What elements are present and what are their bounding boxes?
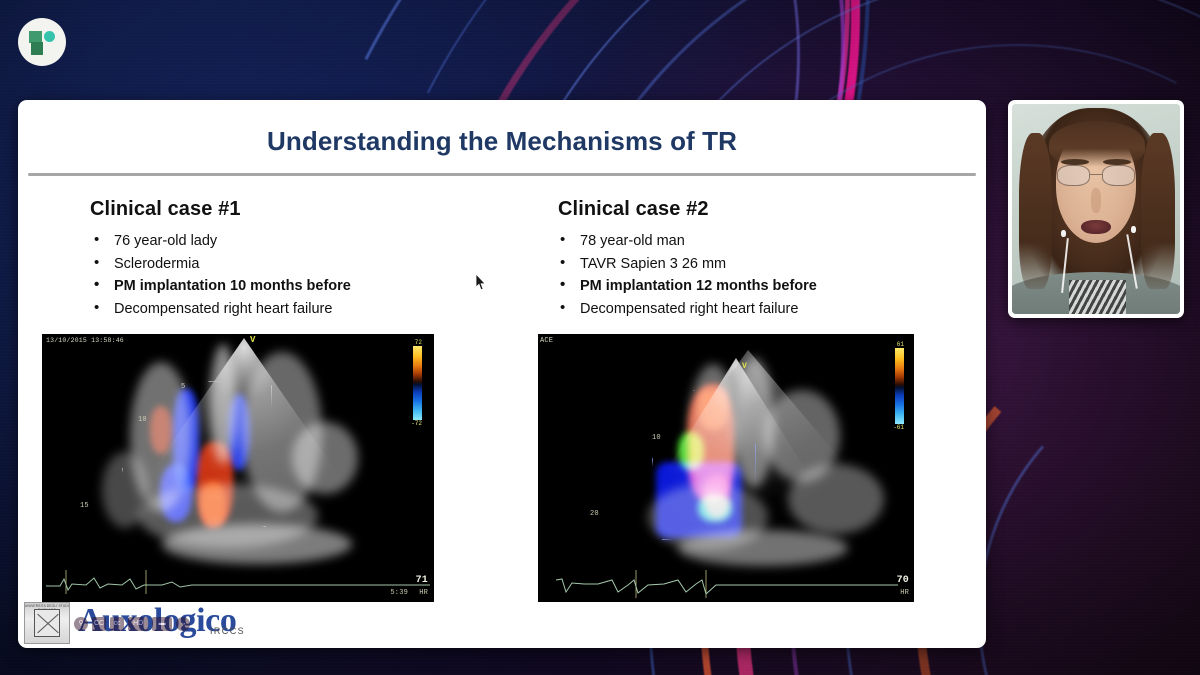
echo-hr-value: 71 bbox=[416, 575, 428, 586]
list-item: Decompensated right heart failure bbox=[92, 298, 484, 321]
speaker-video-feed bbox=[1012, 104, 1180, 314]
echo-hr-value: 70 bbox=[897, 575, 909, 586]
speaker-hair-left bbox=[1019, 133, 1053, 288]
glasses-lens-left bbox=[1057, 165, 1089, 186]
echo-image-case-1[interactable]: 13/10/2015 13:58:46 V 5 10 15 72 -72 bbox=[42, 334, 434, 602]
echo-depth-mark: 10 bbox=[652, 434, 661, 442]
list-item: PM implantation 10 months before bbox=[92, 275, 484, 298]
case-heading-1: Clinical case #1 bbox=[90, 198, 484, 221]
player-control-bar[interactable]: ⚲ CC cc HD ▬ → bbox=[74, 614, 196, 634]
echo-tissue bbox=[788, 464, 884, 534]
speaker-scarf bbox=[1069, 280, 1126, 314]
slide-footer: UNIVERSITA DEGLI STUDI DI MILANO Auxolog… bbox=[18, 594, 986, 648]
screen: Understanding the Mechanisms of TR Clini… bbox=[0, 0, 1200, 675]
search-icon[interactable]: ⚲ bbox=[74, 617, 88, 631]
case-heading-2: Clinical case #2 bbox=[558, 198, 960, 221]
case-bullets-2: 78 year-old man TAVR Sapien 3 26 mm PM i… bbox=[558, 230, 960, 320]
echo-orientation-marker: V bbox=[250, 335, 256, 345]
next-icon[interactable]: → bbox=[176, 617, 190, 631]
echo-image-case-2[interactable]: ACE V 10 20 61 -61 70 HR bbox=[538, 334, 914, 602]
echo-tissue bbox=[292, 422, 358, 494]
echo-colorbar: 72 -72 bbox=[413, 346, 422, 420]
echo-depth-mark: 15 bbox=[80, 502, 89, 510]
speaker-nose bbox=[1091, 188, 1101, 213]
echo-colorbar-gradient bbox=[895, 348, 904, 424]
logo-square-dark bbox=[31, 42, 43, 55]
university-crest-logo: UNIVERSITA DEGLI STUDI DI MILANO bbox=[24, 602, 70, 644]
glasses-lens-right bbox=[1102, 165, 1134, 186]
echo-doppler-jet bbox=[150, 406, 172, 454]
echo-ecg-trace bbox=[42, 564, 434, 598]
brand-logo-glyph bbox=[29, 29, 55, 55]
list-item: 76 year-old lady bbox=[92, 230, 484, 253]
speaker-mouth bbox=[1081, 220, 1111, 235]
echo-doppler-jet bbox=[698, 384, 728, 430]
echo-doppler-jet bbox=[160, 464, 192, 522]
echo-orientation-marker: V bbox=[742, 362, 747, 371]
caption-button[interactable]: cc bbox=[110, 617, 124, 631]
echo-colorbar-max: 61 bbox=[897, 341, 904, 348]
echo-doppler-jet bbox=[678, 432, 704, 470]
presentation-slide[interactable]: Understanding the Mechanisms of TR Clini… bbox=[18, 100, 986, 648]
echo-colorbar-max: 72 bbox=[415, 339, 422, 346]
glasses-icon bbox=[1057, 165, 1134, 186]
slide-title: Understanding the Mechanisms of TR bbox=[18, 126, 986, 157]
list-item: TAVR Sapien 3 26 mm bbox=[558, 253, 960, 276]
case-column-1: Clinical case #1 76 year-old lady Sclero… bbox=[44, 198, 484, 320]
list-item: Decompensated right heart failure bbox=[558, 298, 960, 321]
subtitle-button[interactable]: ▬ bbox=[152, 617, 172, 631]
case-bullets-1: 76 year-old lady Sclerodermia PM implant… bbox=[92, 230, 484, 320]
crest-shield bbox=[34, 609, 60, 637]
echocardiogram-row: 13/10/2015 13:58:46 V 5 10 15 72 -72 bbox=[18, 334, 986, 604]
institution-sub-text: IRCCS bbox=[210, 626, 245, 636]
echo-doppler-jet bbox=[704, 474, 730, 518]
echo-colorbar-gradient bbox=[413, 346, 422, 420]
brand-logo-icon[interactable] bbox=[18, 18, 66, 66]
list-item: 78 year-old man bbox=[558, 230, 960, 253]
case-column-2: Clinical case #2 78 year-old man TAVR Sa… bbox=[520, 198, 960, 320]
echo-depth-mark: 5 bbox=[181, 383, 185, 391]
case-columns: Clinical case #1 76 year-old lady Sclero… bbox=[18, 176, 986, 320]
quality-button[interactable]: HD bbox=[128, 617, 148, 631]
earbud-left bbox=[1061, 230, 1066, 237]
speaker-video-tile[interactable] bbox=[1008, 100, 1184, 318]
echo-timestamp: 13/10/2015 13:58:46 bbox=[46, 337, 124, 344]
list-item: PM implantation 12 months before bbox=[558, 275, 960, 298]
echo-colorbar-min: -61 bbox=[893, 424, 904, 431]
echo-doppler-jet bbox=[200, 482, 226, 528]
cc-button[interactable]: CC bbox=[92, 617, 106, 631]
echo-preset-label: ACE bbox=[540, 337, 553, 345]
earbud-right bbox=[1131, 226, 1136, 233]
echo-tissue bbox=[162, 524, 352, 564]
glasses-bridge bbox=[1089, 174, 1103, 175]
logo-dot bbox=[44, 31, 55, 42]
echo-colorbar-min: -72 bbox=[411, 420, 422, 427]
echo-colorbar: 61 -61 bbox=[895, 348, 904, 424]
list-item: Sclerodermia bbox=[92, 253, 484, 276]
speaker-hair-right bbox=[1141, 133, 1175, 288]
echo-depth-mark: 10 bbox=[138, 416, 147, 424]
echo-depth-mark: 20 bbox=[590, 510, 599, 518]
